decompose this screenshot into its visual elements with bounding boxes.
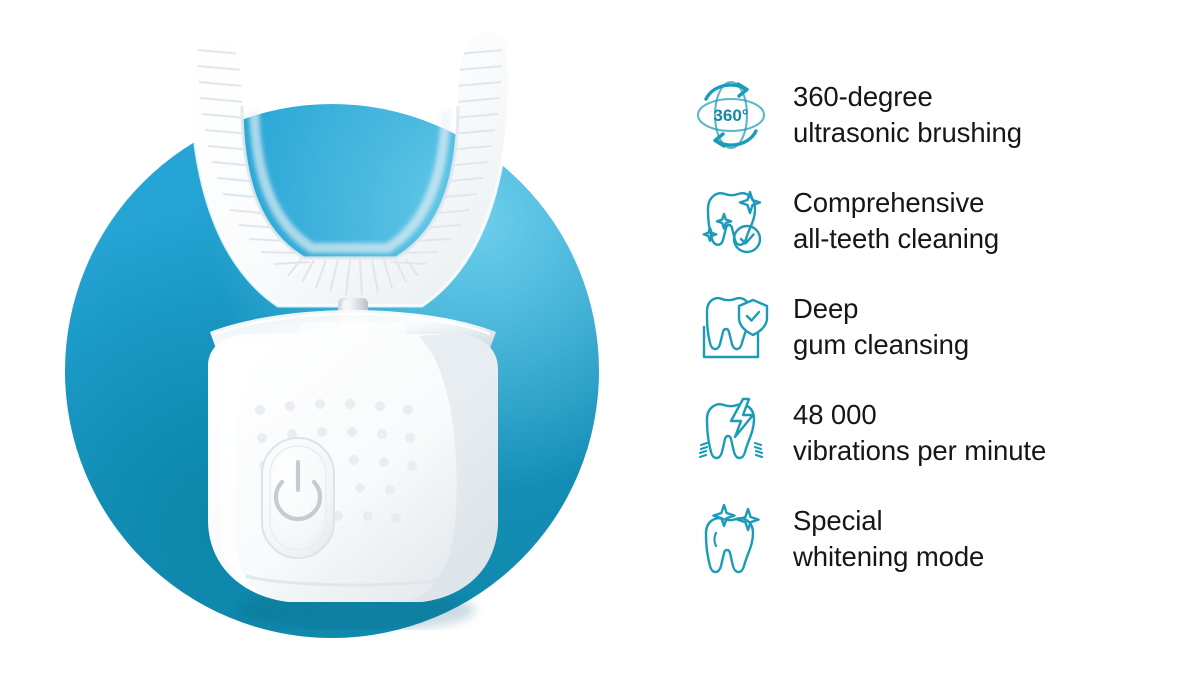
power-button[interactable]	[262, 438, 334, 558]
handle-body	[208, 334, 498, 602]
feature-line2: whitening mode	[793, 539, 984, 575]
product-image	[150, 10, 550, 630]
tooth-gum-shield-icon	[685, 281, 777, 373]
feature-line1: Comprehensive	[793, 187, 984, 218]
feature-line2: gum cleansing	[793, 327, 969, 363]
feature-label-360-degree: 360-degree ultrasonic brushing	[793, 79, 1022, 151]
feature-line1: 360-degree	[793, 81, 933, 112]
360-icon-label: 360°	[713, 106, 748, 125]
feature-label-whitening: Special whitening mode	[793, 503, 984, 575]
product-feature-infographic: 360° 360-degree ultrasonic brushing	[0, 0, 1200, 682]
360-rotation-icon: 360°	[685, 69, 777, 161]
feature-line2: ultrasonic brushing	[793, 115, 1022, 151]
feature-line2: vibrations per minute	[793, 433, 1046, 469]
mouthpiece-graphic	[191, 32, 509, 306]
feature-row-whitening: Special whitening mode	[640, 486, 1200, 592]
feature-line1: Special	[793, 505, 883, 536]
feature-label-gum-cleansing: Deep gum cleansing	[793, 291, 969, 363]
feature-label-vibrations: 48 000 vibrations per minute	[793, 397, 1046, 469]
feature-row-vibrations: 48 000 vibrations per minute	[640, 380, 1200, 486]
feature-row-all-teeth-cleaning: Comprehensive all-teeth cleaning	[640, 168, 1200, 274]
product-hero	[0, 0, 640, 682]
feature-line2: all-teeth cleaning	[793, 221, 999, 257]
feature-line1: 48 000	[793, 399, 877, 430]
feature-list: 360° 360-degree ultrasonic brushing	[640, 0, 1200, 682]
feature-row-gum-cleansing: Deep gum cleansing	[640, 274, 1200, 380]
tooth-whitening-sparkle-icon	[685, 493, 777, 585]
feature-row-360-degree: 360° 360-degree ultrasonic brushing	[640, 62, 1200, 168]
tooth-sparkle-check-icon	[685, 175, 777, 267]
feature-label-all-teeth-cleaning: Comprehensive all-teeth cleaning	[793, 185, 999, 257]
tooth-vibration-bolt-icon	[685, 387, 777, 479]
feature-line1: Deep	[793, 293, 858, 324]
